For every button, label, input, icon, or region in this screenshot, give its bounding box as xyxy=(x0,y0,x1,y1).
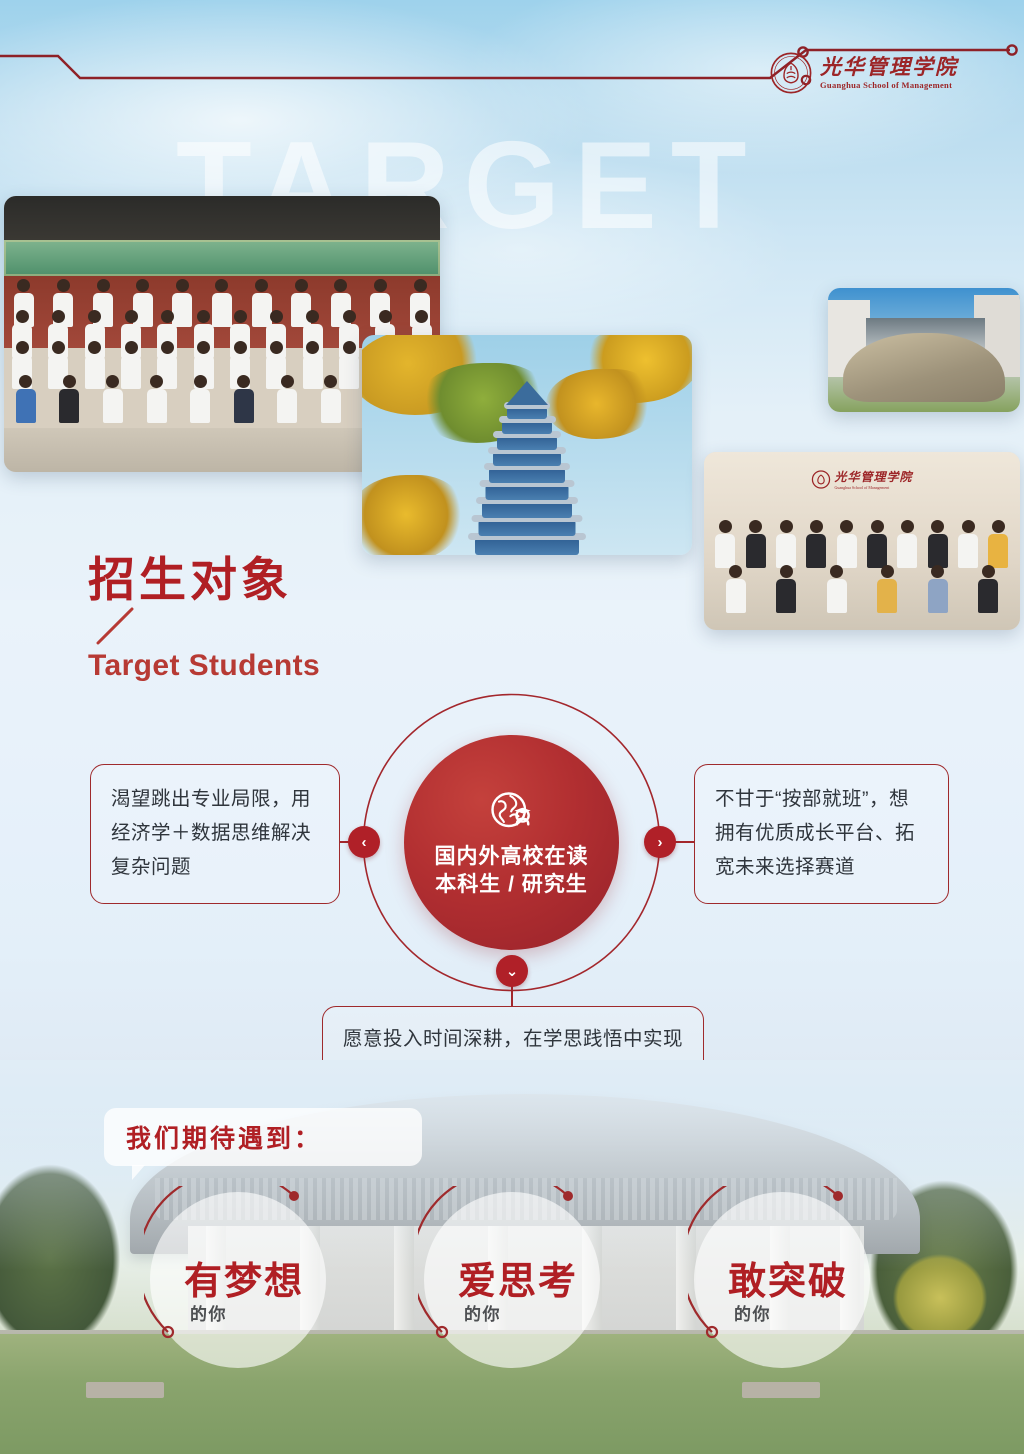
trait-card-left: 渴望跳出专业局限，用经济学＋数据思维解决复杂问题 xyxy=(90,764,340,904)
connector-right-chevron-icon[interactable]: › xyxy=(644,826,676,858)
keyword-main-text: 爱思考 xyxy=(458,1250,578,1305)
keyword-sub-text: 的你 xyxy=(734,1300,771,1325)
expectation-bubble: 我们期待遇到： xyxy=(104,1108,422,1166)
keyword-sub-text: 的你 xyxy=(190,1300,227,1325)
keyword-circle-2: 爱思考 的你 xyxy=(424,1192,600,1368)
trait-card-right: 不甘于“按部就班”，想拥有优质成长平台、拓宽未来选择赛道 xyxy=(694,764,949,904)
keyword-circle-3: 敢突破 的你 xyxy=(694,1192,870,1368)
keyword-main-text: 有梦想 xyxy=(184,1250,304,1305)
core-line-1: 国内外高校在读 xyxy=(435,843,589,871)
core-line-2: 本科生 / 研究生 xyxy=(435,871,588,899)
keyword-circle-1: 有梦想 的你 xyxy=(150,1192,326,1368)
keyword-main-text: 敢突破 xyxy=(728,1250,848,1305)
poster-root: TARGET 光华管理学院 Guanghua School of Managem… xyxy=(0,0,1024,1454)
expectation-bubble-label: 我们期待遇到： xyxy=(126,1119,322,1155)
diagram-core-node: 国内外高校在读 本科生 / 研究生 xyxy=(404,735,619,950)
connector-down-chevron-icon[interactable]: ⌄ xyxy=(496,955,528,987)
globe-graduate-icon xyxy=(486,787,538,839)
connector-left-chevron-icon[interactable]: ‹ xyxy=(348,826,380,858)
keyword-sub-text: 的你 xyxy=(464,1300,501,1325)
